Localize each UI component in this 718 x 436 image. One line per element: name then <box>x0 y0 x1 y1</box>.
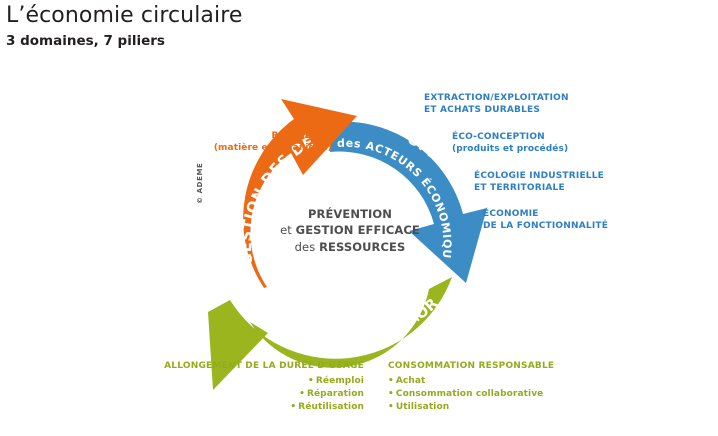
list-item: •Consommation collaborative <box>388 388 554 401</box>
callout-ecoconception-line1: ÉCO-CONCEPTION <box>452 132 568 144</box>
callout-economie: ÉCONOMIE DE LA FONCTIONNALITÉ <box>483 209 608 233</box>
callout-consommation-list: •Achat •Consommation collaborative •Util… <box>388 375 554 414</box>
callout-ecologie-line1: ÉCOLOGIE INDUSTRIELLE <box>474 171 604 183</box>
callout-allongement-title: ALLONGEMENT DE LA DURÉE D’USAGE <box>156 361 364 373</box>
list-item: •Achat <box>388 375 554 388</box>
list-item: •Réutilisation <box>156 401 364 414</box>
list-item-label: Réemploi <box>316 376 364 386</box>
list-item-label: Achat <box>396 376 426 386</box>
list-item-label: Utilisation <box>396 402 449 412</box>
credit-ademe: © ADEME <box>196 163 204 204</box>
bullet-icon: • <box>388 402 396 412</box>
bullet-icon: • <box>308 376 316 386</box>
callout-ecoconception: ÉCO-CONCEPTION (produits et procédés) <box>452 132 568 156</box>
bullet-icon: • <box>388 376 396 386</box>
callout-ecoconception-line2: (produits et procédés) <box>452 144 568 156</box>
center-line-2: et GESTION EFFICACE <box>279 222 421 238</box>
list-item-label: Réutilisation <box>298 402 364 412</box>
center-line-3-main: RESSOURCES <box>319 240 405 254</box>
callout-extraction-line2: ET ACHATS DURABLES <box>424 105 569 117</box>
bullet-icon: • <box>299 389 307 399</box>
arc-demand-label-small: des CONSOMMATEURS <box>0 0 426 346</box>
list-item: •Réemploi <box>156 375 364 388</box>
callout-economie-line1: ÉCONOMIE <box>483 209 608 221</box>
callout-extraction: EXTRACTION/EXPLOITATION ET ACHATS DURABL… <box>424 93 569 117</box>
callout-extraction-line1: EXTRACTION/EXPLOITATION <box>424 93 569 105</box>
list-item: •Réparation <box>156 388 364 401</box>
page-root: L’économie circulaire 3 domaines, 7 pili… <box>0 0 718 436</box>
callout-ecologie: ÉCOLOGIE INDUSTRIELLE ET TERRITORIALE <box>474 171 604 195</box>
center-line-3-lead: des <box>295 240 319 254</box>
arc-demand-label: DEMANDE ET COMPORTEMENT <box>0 0 441 343</box>
list-item: •Utilisation <box>388 401 554 414</box>
list-item-label: Consommation collaborative <box>396 389 544 399</box>
callout-recyclage-line2: (matière et organique) <box>144 143 332 155</box>
callout-consommation-title: CONSOMMATION RESPONSABLE <box>388 361 554 373</box>
center-line-3: des RESSOURCES <box>279 239 421 255</box>
callout-economie-line2: DE LA FONCTIONNALITÉ <box>483 221 608 233</box>
center-text: PRÉVENTION et GESTION EFFICACE des RESSO… <box>279 206 421 255</box>
center-line-2-lead: et <box>280 223 296 237</box>
list-item-label: Réparation <box>307 389 364 399</box>
callout-allongement-list: •Réemploi •Réparation •Réutilisation <box>156 375 364 414</box>
center-line-2-main: GESTION EFFICACE <box>296 223 420 237</box>
callout-recyclage: RECYCLAGE (matière et organique) <box>144 131 332 155</box>
center-line-1: PRÉVENTION <box>279 206 421 222</box>
bullet-icon: • <box>388 389 396 399</box>
callout-recyclage-line1: RECYCLAGE <box>144 131 332 143</box>
callout-allongement: ALLONGEMENT DE LA DURÉE D’USAGE •Réemplo… <box>156 361 364 414</box>
callout-consommation: CONSOMMATION RESPONSABLE •Achat •Consomm… <box>388 361 554 414</box>
callout-ecologie-line2: ET TERRITORIALE <box>474 183 604 195</box>
